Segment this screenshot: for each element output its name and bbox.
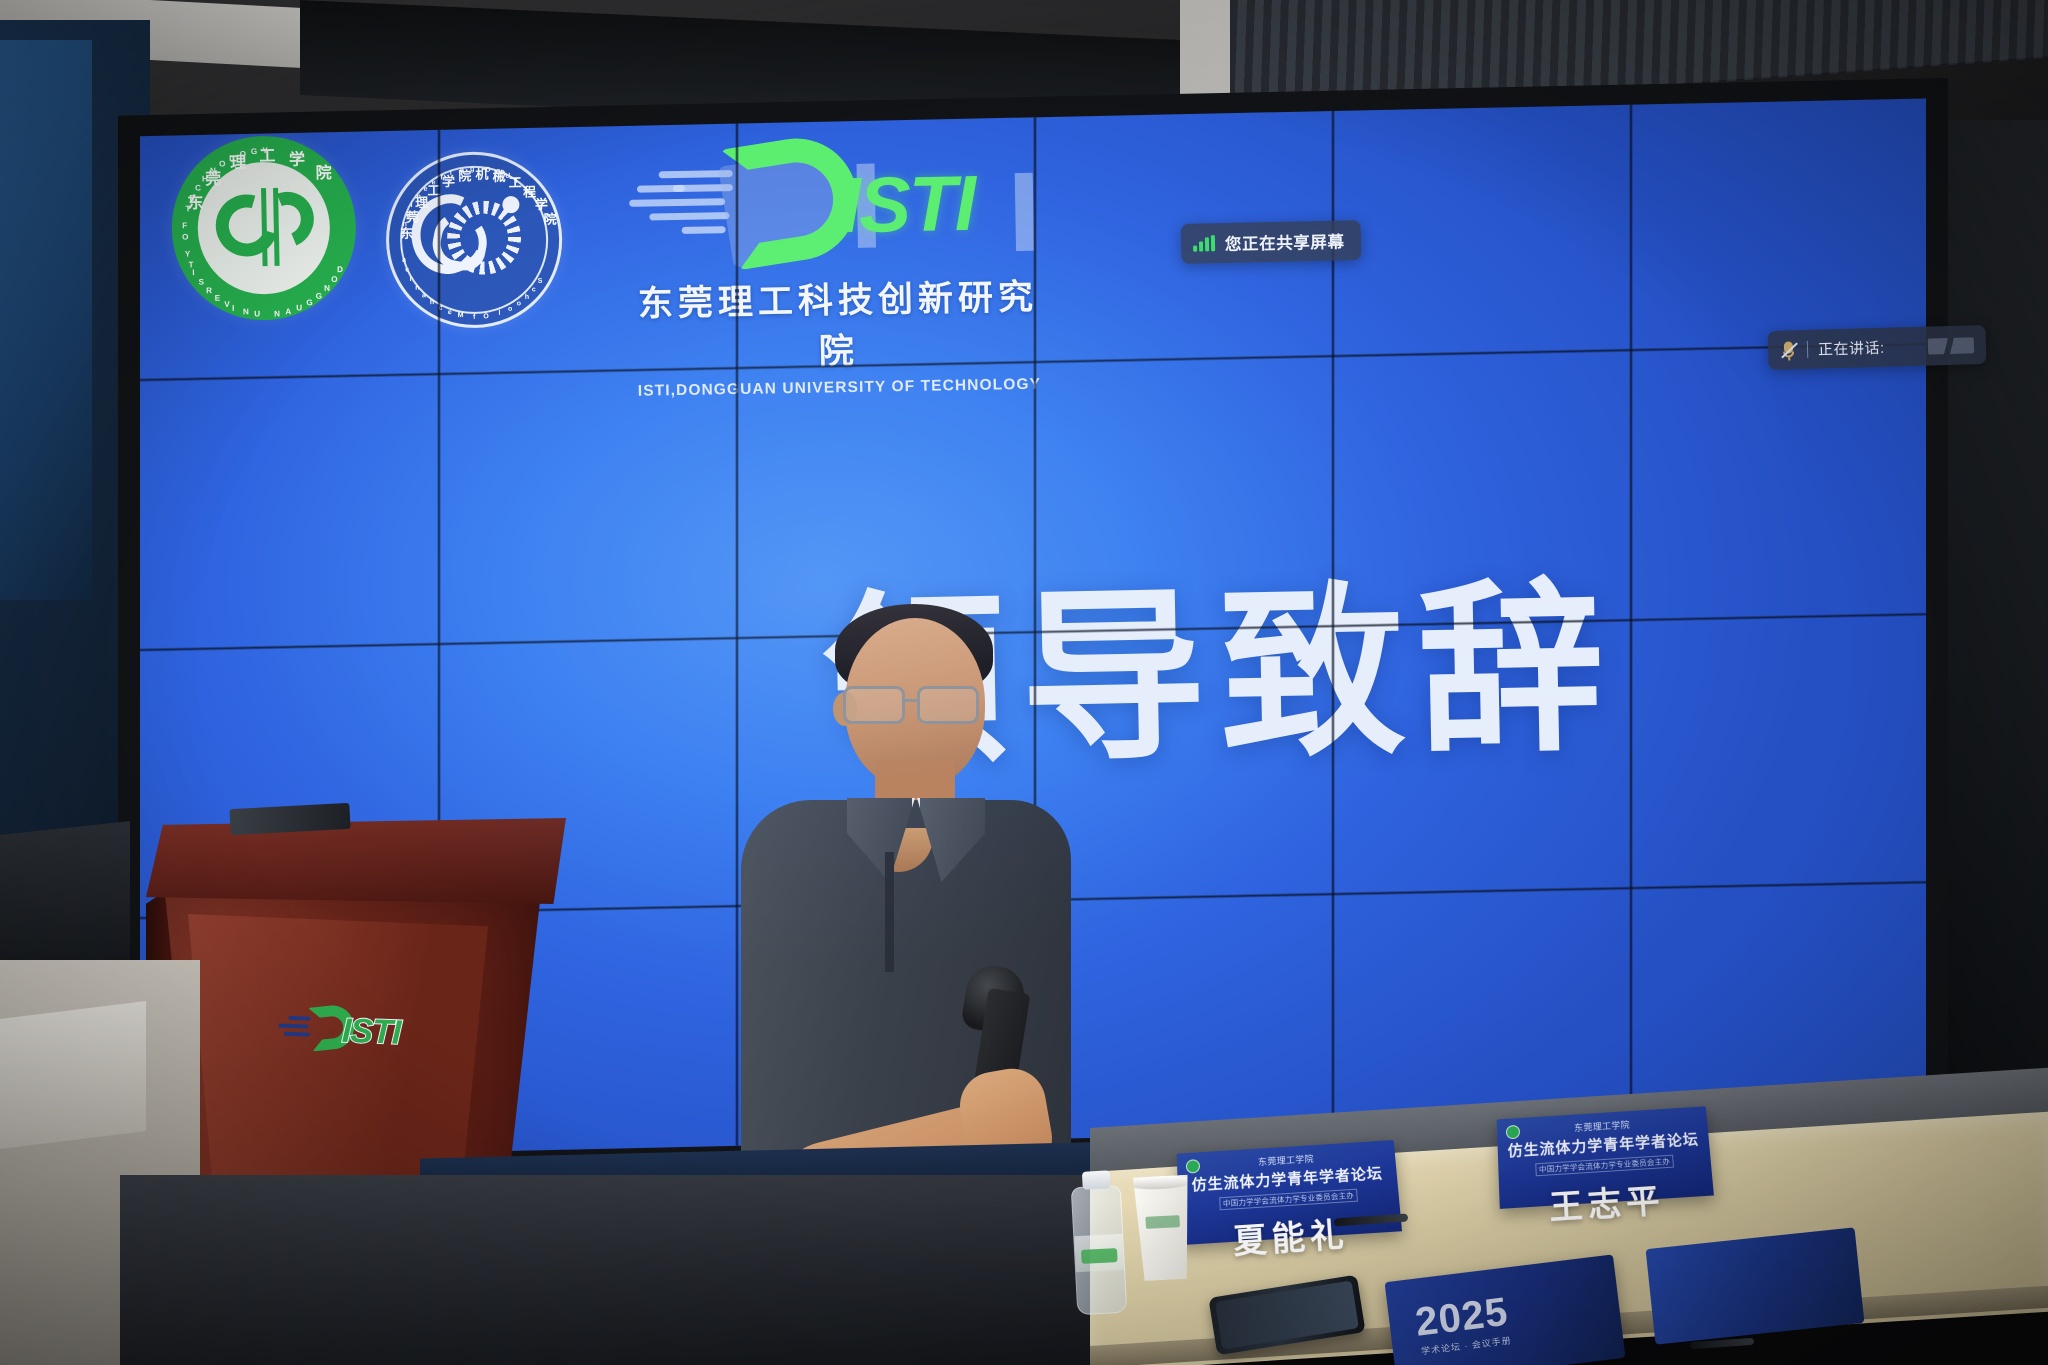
glasses-icon bbox=[843, 686, 989, 726]
isti-english-name: ISTI,DONGGUAN UNIVERSITY OF TECHNOLOGY bbox=[624, 375, 1054, 401]
speaking-label: 正在讲话: bbox=[1818, 337, 1885, 360]
water-bottle[interactable] bbox=[1071, 1185, 1128, 1315]
wall-right bbox=[1940, 120, 2048, 1120]
dgut-seal-icon: 东 莞 理 工 学 院 D O N G G U A bbox=[170, 134, 358, 322]
podium-isti-logo-icon: ISTI bbox=[275, 999, 423, 1062]
podium-isti-wordmark: ISTI bbox=[341, 1014, 400, 1050]
cup-logo-mark bbox=[1145, 1215, 1180, 1229]
slide-logo-row: 东 莞 理 工 学 院 D O N G G U A bbox=[170, 130, 564, 334]
me-seal-en-text: S c h o o l O f M e c h a n i bbox=[387, 153, 560, 326]
bottle-label bbox=[1074, 1234, 1124, 1272]
signal-bars-icon bbox=[1193, 235, 1215, 251]
isti-wordmark: ISTI bbox=[839, 164, 975, 244]
screenshot-root: 东 莞 理 工 学 院 D O N G G U A bbox=[0, 0, 2048, 1365]
podium-top-surface bbox=[146, 818, 566, 904]
screen-share-indicator[interactable]: 您正在共享屏幕 bbox=[1181, 220, 1361, 264]
floor-white-box bbox=[0, 1001, 146, 1149]
speaking-indicator[interactable]: 正在讲话: bbox=[1767, 325, 1986, 370]
conference-booklet[interactable] bbox=[1646, 1227, 1865, 1344]
dgut-seal-en-text: D O N G G U A N U N I V E R S bbox=[170, 134, 358, 322]
nameplate-xia-neng-li: 东莞理工学院 仿生流体力学青年学者论坛 中国力学学会流体力学专业委员会主办 夏能… bbox=[1177, 1140, 1402, 1245]
stage-floor bbox=[120, 1175, 1120, 1365]
microphone-muted-icon bbox=[1780, 340, 1798, 360]
screen-share-label: 您正在共享屏幕 bbox=[1225, 228, 1345, 255]
front-table: 东莞理工学院 仿生流体力学青年学者论坛 中国力学学会流体力学专业委员会主办 夏能… bbox=[1090, 1128, 2048, 1365]
isti-logo-icon: ISTI bbox=[620, 128, 1052, 267]
chip-divider bbox=[1807, 341, 1808, 358]
bottle-cap bbox=[1082, 1170, 1111, 1189]
mechanical-engineering-seal-icon: 东 莞 理 工 学 院 机 械 工 程 学 院 S bbox=[384, 150, 563, 329]
speaker-collar bbox=[847, 798, 987, 884]
wall-left-lit-panel bbox=[0, 40, 92, 600]
speaker-placket bbox=[885, 852, 894, 972]
nameplate-wang-zhi-ping: 东莞理工学院 仿生流体力学青年学者论坛 中国力学学会流体力学专业委员会主办 王志… bbox=[1497, 1106, 1714, 1209]
speaker-name-placeholder bbox=[1928, 337, 1974, 354]
